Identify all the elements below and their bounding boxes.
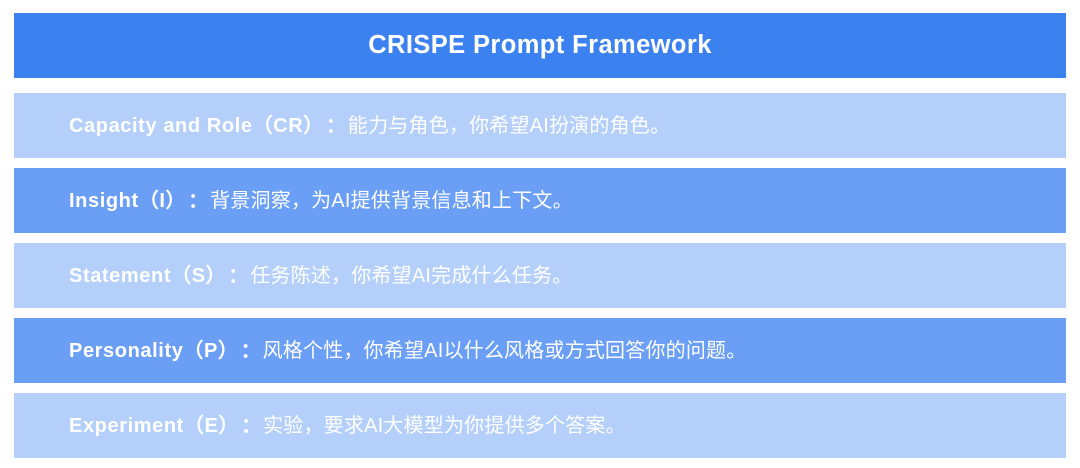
row-label: Capacity and Role（CR） (69, 115, 324, 137)
row-label: Insight（I） (69, 190, 186, 212)
row-separator: ： (186, 190, 210, 212)
row-text: Experiment（E） ： 实验，要求AI大模型为你提供多个答案。 (69, 415, 626, 437)
row-label: Experiment（E） (69, 415, 239, 437)
row-label: Personality（P） (69, 340, 239, 362)
page-title: CRISPE Prompt Framework (368, 33, 712, 59)
row-separator: ： (239, 340, 263, 362)
framework-row-list: Capacity and Role（CR） ： 能力与角色，你希望AI扮演的角色… (14, 93, 1066, 458)
framework-row-insight: Insight（I） ： 背景洞察，为AI提供背景信息和上下文。 (14, 168, 1066, 233)
framework-header-bar: CRISPE Prompt Framework (14, 13, 1066, 78)
framework-row-experiment: Experiment（E） ： 实验，要求AI大模型为你提供多个答案。 (14, 393, 1066, 458)
row-label: Statement（S） (69, 265, 226, 287)
row-description: 任务陈述，你希望AI完成什么任务。 (250, 265, 572, 287)
row-description: 背景洞察，为AI提供背景信息和上下文。 (210, 190, 573, 212)
row-text: Statement（S） ： 任务陈述，你希望AI完成什么任务。 (69, 265, 573, 287)
row-text: Capacity and Role（CR） ： 能力与角色，你希望AI扮演的角色… (69, 115, 670, 137)
row-description: 能力与角色，你希望AI扮演的角色。 (348, 115, 670, 137)
row-separator: ： (239, 415, 263, 437)
row-separator: ： (324, 115, 348, 137)
row-text: Personality（P） ： 风格个性，你希望AI以什么风格或方式回答你的问… (69, 340, 746, 362)
framework-row-statement: Statement（S） ： 任务陈述，你希望AI完成什么任务。 (14, 243, 1066, 308)
framework-row-personality: Personality（P） ： 风格个性，你希望AI以什么风格或方式回答你的问… (14, 318, 1066, 383)
crispe-framework-card: CRISPE Prompt Framework Capacity and Rol… (14, 13, 1066, 458)
row-separator: ： (226, 265, 250, 287)
row-text: Insight（I） ： 背景洞察，为AI提供背景信息和上下文。 (69, 190, 573, 212)
row-description: 风格个性，你希望AI以什么风格或方式回答你的问题。 (263, 340, 747, 362)
framework-row-capacity-and-role: Capacity and Role（CR） ： 能力与角色，你希望AI扮演的角色… (14, 93, 1066, 158)
row-description: 实验，要求AI大模型为你提供多个答案。 (263, 415, 626, 437)
